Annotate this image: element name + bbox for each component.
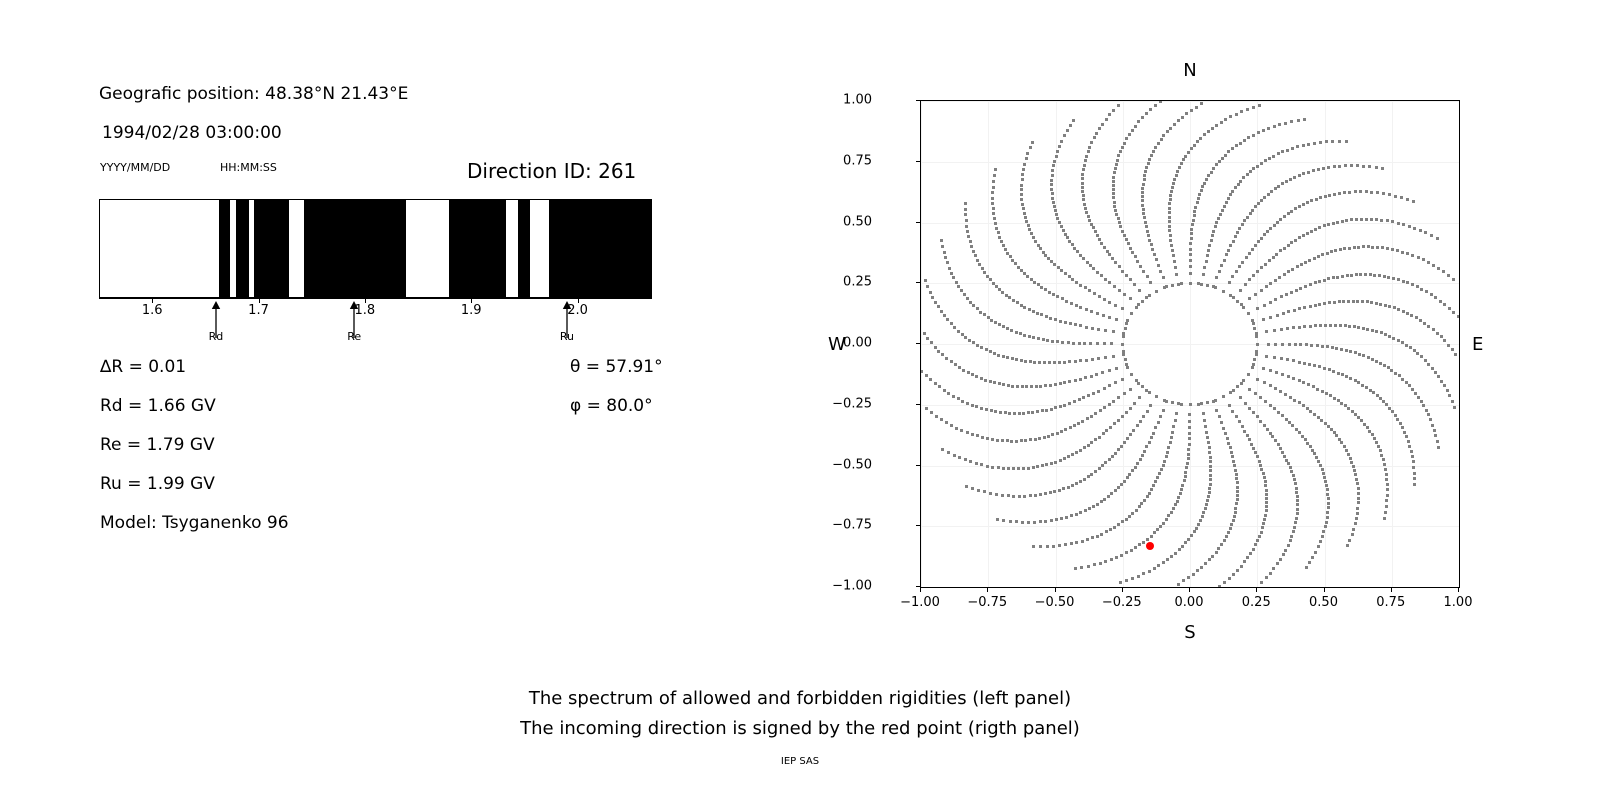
direction-plot-area [920,100,1460,588]
direction-point [1327,497,1330,500]
direction-point [955,281,958,284]
direction-point [1263,476,1266,479]
direction-point [1365,386,1368,389]
direction-point [1322,530,1325,533]
direction-point [1211,127,1214,130]
direction-point [1112,355,1115,358]
direction-point [1397,308,1400,311]
direction-point [1185,466,1188,469]
direction-point [1065,516,1068,519]
direction-point [1430,293,1433,296]
direction-point [1270,190,1273,193]
direction-point [1168,216,1171,219]
x-axis-tick [1189,588,1190,592]
direction-point [1273,356,1276,359]
direction-point [1088,507,1091,510]
direction-point [1362,354,1365,357]
direction-point [1030,278,1033,281]
direction-point [1173,260,1176,263]
direction-point [1169,441,1172,444]
direction-point [1248,297,1251,300]
direction-point [1054,209,1057,212]
direction-point [1344,324,1347,327]
direction-point [1111,257,1114,260]
direction-point [1415,316,1418,319]
direction-point [1098,127,1101,130]
direction-point [1159,525,1162,528]
direction-point [1108,384,1111,387]
direction-point [1340,402,1343,405]
direction-point [1338,140,1341,143]
direction-point [1087,394,1090,397]
direction-point [981,436,984,439]
direction-point [991,191,994,194]
direction-point [1278,276,1281,279]
direction-point [1259,464,1262,467]
direction-point [1098,238,1101,241]
direction-point [1254,244,1257,247]
direction-point [1408,384,1411,387]
direction-point [1054,318,1057,321]
direction-point [1402,280,1405,283]
direction-point [1168,229,1171,232]
direction-point [1080,566,1083,569]
direction-point [1202,412,1205,415]
direction-point [1303,362,1306,365]
direction-point [1064,428,1067,431]
direction-point [1341,373,1344,376]
direction-point [1260,289,1263,292]
direction-point [1013,412,1016,415]
direction-point [1170,511,1173,514]
direction-point [1101,371,1104,374]
direction-point [1071,453,1074,456]
parameter-value: Rd = 1.66 GV [100,396,216,416]
direction-point [1385,478,1388,481]
direction-point [1002,355,1005,358]
direction-point [1212,167,1215,170]
direction-point [1088,219,1091,222]
direction-point [1169,194,1172,197]
direction-point [1146,275,1149,278]
direction-point [992,212,995,215]
direction-point [1266,428,1269,431]
direction-point [1410,314,1413,317]
direction-point [1028,228,1031,231]
direction-point [1029,360,1032,363]
direction-point [1269,384,1272,387]
direction-point [1359,273,1362,276]
direction-point [1334,249,1337,252]
direction-point [1138,505,1141,508]
direction-point [1345,349,1348,352]
direction-point [1442,270,1445,273]
direction-point [1256,343,1259,346]
direction-point [1209,474,1212,477]
direction-point [1413,227,1416,230]
direction-point [943,314,946,317]
direction-point [1103,298,1106,301]
direction-point [953,326,956,329]
direction-point [1350,274,1353,277]
direction-point [1112,192,1115,195]
direction-point [1093,292,1096,295]
direction-point [1317,255,1320,258]
direction-point [1219,213,1222,216]
direction-point [1148,294,1151,297]
direction-point [1274,343,1277,346]
direction-point [1419,319,1422,322]
direction-point [965,219,968,222]
direction-point [1105,118,1108,121]
direction-point [1232,240,1235,243]
direction-point [1327,166,1330,169]
direction-point [1064,233,1067,236]
direction-point [1001,494,1004,497]
direction-point [1243,219,1246,222]
parameter-value: ∆R = 0.01 [100,357,186,377]
direction-point [1058,544,1061,547]
direction-point [1100,242,1103,245]
direction-point [941,245,944,248]
direction-point [1228,281,1231,284]
parameter-value: θ = 57.91° [570,357,663,377]
direction-point [1211,234,1214,237]
asymptotic-direction-panel: N S W E 1.000.750.500.250.00−0.25−0.50−0… [820,40,1520,660]
direction-point [1304,285,1307,288]
direction-point [1143,216,1146,219]
direction-point [940,418,943,421]
direction-point [1059,459,1062,462]
direction-point [1018,412,1021,415]
direction-point [1103,246,1106,249]
direction-point [1141,116,1144,119]
direction-point [1303,325,1306,328]
direction-point [957,330,960,333]
direction-point [1076,250,1079,253]
direction-point [1350,461,1353,464]
direction-point [1024,439,1027,442]
direction-point [1100,500,1103,503]
direction-point [1189,259,1192,262]
direction-point [1094,230,1097,233]
direction-point [1257,131,1260,134]
direction-point [1189,272,1192,275]
direction-point [1004,248,1007,251]
direction-point [1388,193,1391,196]
direction-point [1304,261,1307,264]
direction-point [1332,222,1335,225]
direction-point [1436,332,1439,335]
direction-point [1380,454,1383,457]
incoming-direction-point [1146,542,1154,550]
direction-point [1006,439,1009,442]
direction-point [1188,413,1191,416]
direction-point [1149,108,1152,111]
direction-point [997,231,1000,234]
direction-point [1258,104,1261,107]
direction-point [1170,436,1173,439]
direction-point [1214,225,1217,228]
direction-point [1262,129,1265,132]
direction-point [1388,407,1391,410]
direction-point [1189,282,1192,285]
y-axis-tick-label: 0.25 [843,275,872,290]
direction-point [1318,303,1321,306]
direction-point [1334,324,1337,327]
direction-point [943,389,946,392]
direction-point [1195,106,1198,109]
direction-point [1290,291,1293,294]
direction-point [1296,265,1299,268]
direction-point [1025,157,1028,160]
direction-point [1131,469,1134,472]
direction-point [1454,353,1457,356]
direction-point [1115,556,1118,559]
direction-point [1063,134,1066,137]
direction-point [1371,329,1374,332]
direction-point [1056,217,1059,220]
direction-point [1201,185,1204,188]
direction-point [923,332,926,335]
direction-point [1145,445,1148,448]
direction-point [1293,478,1296,481]
direction-point [1050,188,1053,191]
direction-point [935,415,938,418]
direction-point [1252,548,1255,551]
direction-point [1088,146,1091,149]
direction-point [1324,324,1327,327]
direction-point [1079,449,1082,452]
direction-point [1260,199,1263,202]
direction-point [1284,549,1287,552]
direction-point [1051,340,1054,343]
direction-point [1362,165,1365,168]
direction-point [1387,366,1390,369]
direction-point [1260,531,1263,534]
direction-point [1091,536,1094,539]
direction-point [1206,284,1209,287]
direction-point [1058,361,1061,364]
direction-point [1145,166,1148,169]
direction-point [1059,382,1062,385]
direction-point [1137,575,1140,578]
direction-point [1208,491,1211,494]
direction-point [1287,462,1290,465]
direction-point [1094,412,1097,415]
direction-point [1085,155,1088,158]
direction-point [1229,446,1232,449]
direction-point [1119,225,1122,228]
y-axis-tick [916,525,920,526]
direction-point [1078,342,1081,345]
direction-point [1207,249,1210,252]
direction-point [1238,420,1241,423]
direction-point [1294,482,1297,485]
direction-point [1383,275,1386,278]
direction-point [998,323,1001,326]
direction-point [1371,246,1374,249]
direction-point [1443,339,1446,342]
direction-point [1032,466,1035,469]
direction-point [1165,518,1168,521]
direction-point [924,279,927,282]
direction-point [1263,304,1266,307]
direction-point [929,291,932,294]
direction-point [1437,267,1440,270]
direction-point [1006,327,1009,330]
direction-point [1010,329,1013,332]
direction-point [1112,196,1115,199]
direction-point [1075,482,1078,485]
direction-point [1015,331,1018,334]
direction-point [1074,360,1077,363]
direction-point [994,168,997,171]
direction-point [943,251,946,254]
direction-point [1011,385,1014,388]
direction-point [1108,281,1111,284]
direction-point [1061,341,1064,344]
direction-point [1117,486,1120,489]
direction-point [1300,263,1303,266]
direction-point [1117,523,1120,526]
direction-point [1335,347,1338,350]
direction-point [925,374,928,377]
direction-point [1142,208,1145,211]
direction-point [1260,237,1263,240]
direction-point [1265,497,1268,500]
y-axis-tick-label: 0.00 [843,336,872,351]
direction-point [1105,530,1108,533]
direction-point [1162,409,1165,412]
direction-point [1029,146,1032,149]
direction-point [1125,518,1128,521]
direction-point [1112,188,1115,191]
direction-point [1187,448,1190,451]
direction-point [1178,166,1181,169]
direction-point [1063,404,1066,407]
y-axis-tick [916,586,920,587]
direction-point [996,439,999,442]
direction-point [1379,449,1382,452]
direction-point [1108,403,1111,406]
direction-point [1292,474,1295,477]
direction-point [1062,487,1065,490]
direction-point [1348,247,1351,250]
direction-point [1217,547,1220,550]
direction-point [1054,461,1057,464]
direction-point [1424,359,1427,362]
direction-point [1238,265,1241,268]
direction-point [1277,152,1280,155]
direction-point [1319,540,1322,543]
direction-point [1355,478,1358,481]
direction-point [1215,409,1218,412]
direction-point [1205,260,1208,263]
direction-point [1222,427,1225,430]
direction-point [1130,312,1133,315]
direction-point [1048,291,1051,294]
direction-point [1170,555,1173,558]
direction-point [1141,300,1144,303]
direction-point [1011,357,1014,360]
direction-point [1333,193,1336,196]
direction-point [1413,483,1416,486]
direction-point [1075,541,1078,544]
direction-point [1265,285,1268,288]
direction-point [1089,342,1092,345]
direction-point [1265,505,1268,508]
direction-point [1158,472,1161,475]
direction-point [1249,552,1252,555]
direction-point [1071,484,1074,487]
direction-point [952,395,955,398]
direction-point [1189,403,1192,406]
direction-point [1274,298,1277,301]
direction-point [1034,494,1037,497]
direction-point [1056,150,1059,153]
direction-point [1309,445,1312,448]
direction-point [1294,521,1297,524]
direction-point [1091,327,1094,330]
direction-point [1087,475,1090,478]
direction-point [1015,358,1018,361]
direction-point [1433,429,1436,432]
direction-point [1397,222,1400,225]
direction-point [1242,379,1245,382]
direction-point [1285,459,1288,462]
direction-point [1198,193,1201,196]
direction-point [1236,231,1239,234]
direction-point [1256,455,1259,458]
direction-point [972,341,975,344]
direction-point [1169,239,1172,242]
direction-point [1422,404,1425,407]
direction-point [1329,394,1332,397]
direction-point [1208,487,1211,490]
direction-point [1102,432,1105,435]
direction-point [1051,169,1054,172]
direction-point [1396,418,1399,421]
direction-point [1430,234,1433,237]
direction-point [1248,388,1251,391]
direction-point [1375,441,1378,444]
direction-point [1120,483,1123,486]
direction-point [1044,492,1047,495]
direction-point [1053,263,1056,266]
direction-point [1082,396,1085,399]
direction-point [1275,253,1278,256]
direction-point [1204,425,1207,428]
direction-point [1188,437,1191,440]
direction-point [1206,254,1209,257]
x-axis-tick-label: 0.00 [1175,595,1204,610]
direction-point [1330,250,1333,253]
direction-point [1432,328,1435,331]
direction-point [1265,489,1268,492]
direction-point [1332,370,1335,373]
direction-point [1128,133,1131,136]
direction-point [1323,476,1326,479]
direction-point [1148,492,1151,495]
direction-point [1287,212,1290,215]
direction-point [1440,380,1443,383]
direction-point [1310,199,1313,202]
direction-point [1292,377,1295,380]
direction-point [1165,400,1168,403]
direction-point [1277,411,1280,414]
direction-point [1039,247,1042,250]
